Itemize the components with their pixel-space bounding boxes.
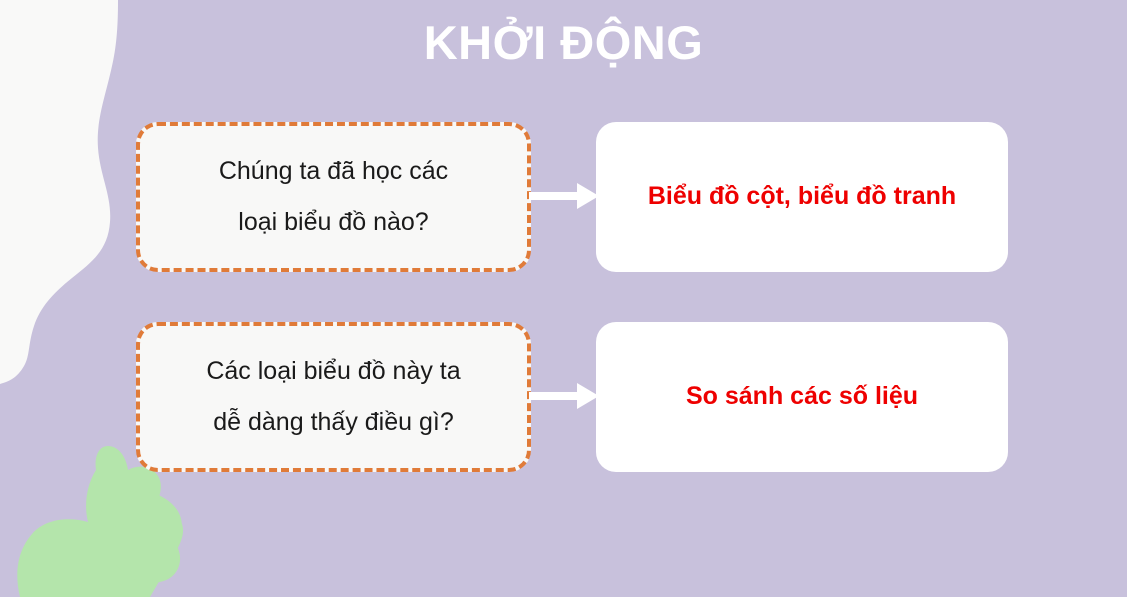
question-text-2: Các loại biểu đồ này ta dễ dàng thấy điề…	[206, 346, 460, 449]
question-box-1[interactable]: Chúng ta đã học các loại biểu đồ nào?	[136, 122, 531, 272]
answer-box-2[interactable]: So sánh các số liệu	[596, 322, 1008, 472]
answer-text-1: Biểu đồ cột, biểu đồ tranh	[648, 180, 956, 214]
slide-canvas: KHỞI ĐỘNG Chúng ta đã học các loại biểu …	[0, 0, 1127, 597]
page-title: KHỞI ĐỘNG	[0, 15, 1127, 71]
question-text-1: Chúng ta đã học các loại biểu đồ nào?	[219, 146, 448, 249]
arrow-right-icon-2	[529, 379, 599, 413]
question-box-2[interactable]: Các loại biểu đồ này ta dễ dàng thấy điề…	[136, 322, 531, 472]
answer-box-1[interactable]: Biểu đồ cột, biểu đồ tranh	[596, 122, 1008, 272]
question-line-2: loại biểu đồ nào?	[238, 208, 428, 236]
question-line-1: Chúng ta đã học các	[219, 157, 448, 185]
question-line-2: dễ dàng thấy điều gì?	[213, 408, 453, 436]
answer-text-2: So sánh các số liệu	[686, 380, 918, 414]
background-decorations	[0, 0, 1127, 597]
question-line-1: Các loại biểu đồ này ta	[206, 357, 460, 385]
arrow-right-icon-1	[529, 179, 599, 213]
